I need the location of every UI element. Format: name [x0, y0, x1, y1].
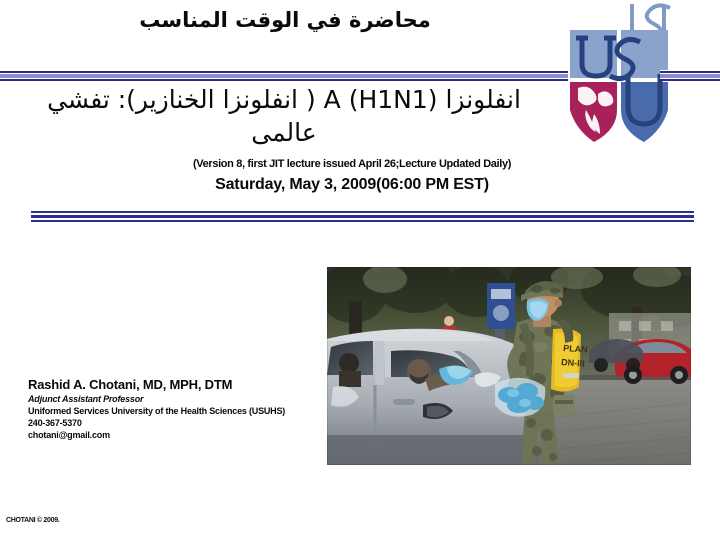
presenter-affiliation: Uniformed Services University of the Hea… [28, 405, 328, 417]
soldier-distributing-face-masks-photo: PLAN DN-III [327, 267, 691, 465]
svg-text:DN-III: DN-III [561, 357, 585, 369]
presenter-info: Rashid A. Chotani, MD, MPH, DTM Adjunct … [28, 377, 328, 441]
version-note: (Version 8, first JIT lecture issued Apr… [22, 157, 682, 171]
page-title-line-2: عالمى [22, 116, 546, 149]
lecture-date: Saturday, May 3, 2009(06:00 PM EST) [22, 175, 682, 195]
usu-shield-logo [566, 2, 674, 150]
arabic-kicker-heading: محاضرة في الوقت المناسب [0, 6, 570, 34]
slide-canvas: محاضرة في الوقت المناسب [0, 0, 720, 540]
divider-rule-lower [31, 211, 694, 221]
bag-of-masks [495, 378, 545, 417]
divider-rule-upper-left [0, 70, 568, 80]
page-title: انفلونزا A (H1N1) ( انفلونزا الخنازير): … [22, 83, 546, 149]
page-title-line-1: انفلونزا A (H1N1) ( انفلونزا الخنازير): … [22, 83, 546, 116]
divider-rule-upper-right [660, 70, 720, 80]
presenter-phone: 240-367-5370 [28, 417, 328, 429]
presenter-role: Adjunct Assistant Professor [28, 393, 328, 405]
footer-copyright: CHOTANI © 2009. [6, 516, 59, 525]
presenter-name: Rashid A. Chotani, MD, MPH, DTM [28, 377, 328, 393]
svg-text:PLAN: PLAN [563, 343, 588, 355]
presenter-email: chotani@gmail.com [28, 429, 328, 441]
